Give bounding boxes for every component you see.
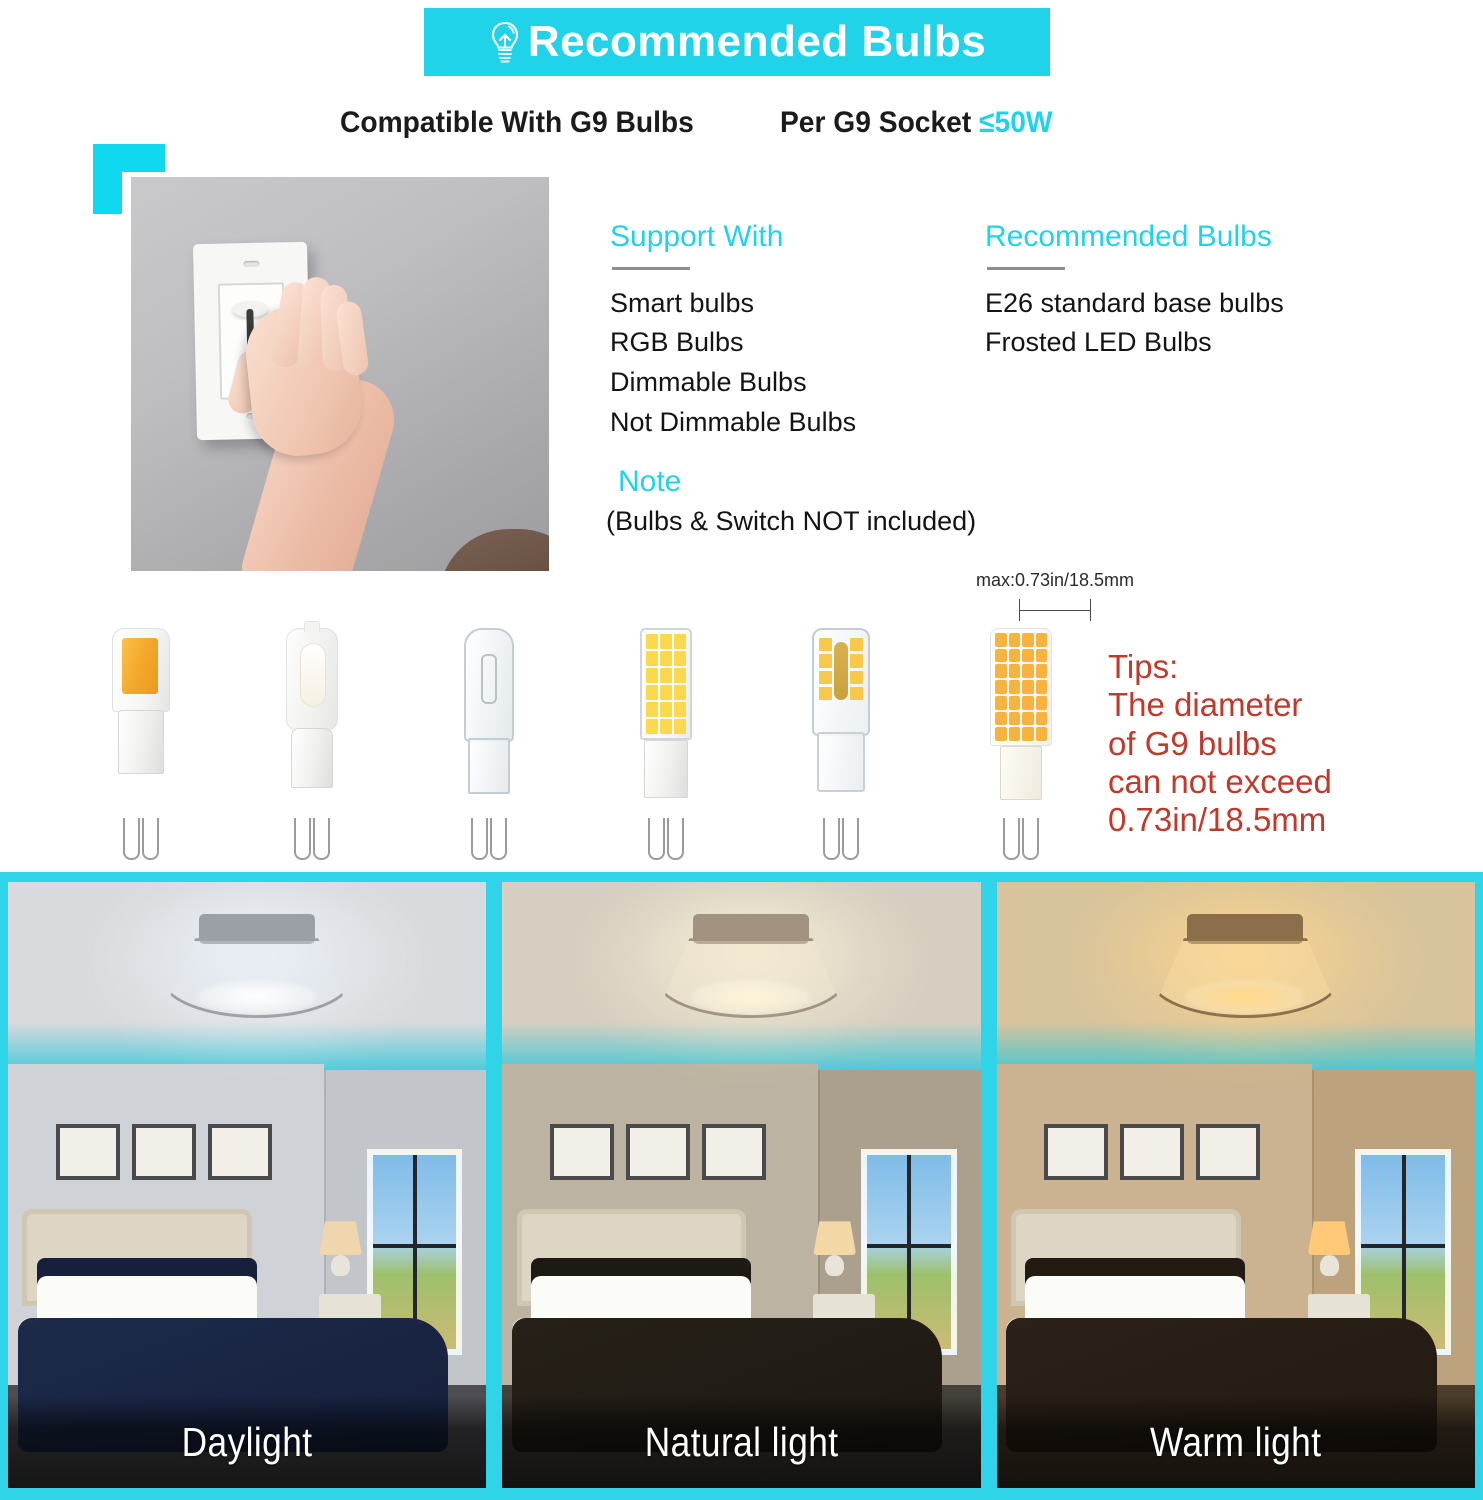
note-block: Note (Bulbs & Switch NOT included)	[618, 465, 1048, 537]
bulb-3-base	[468, 738, 510, 794]
bulb-3-pin-right	[490, 818, 507, 860]
bulb-3-pin-left	[471, 818, 488, 860]
room-photo-warm-light: Warm light	[997, 882, 1475, 1488]
frame-2-1	[1120, 1124, 1184, 1180]
subtitle-row: Compatible With G9 Bulbs Per G9 Socket ≤…	[340, 106, 1140, 140]
tips-block: Tips: The diameter of G9 bulbs can not e…	[1108, 648, 1468, 839]
bulb-6-base	[1000, 746, 1042, 800]
ceiling-light-fixture-0	[157, 912, 357, 1018]
bulb-2-pin-right	[313, 818, 330, 860]
smd-led-g9-bulb	[620, 628, 712, 858]
room-caption-natural-light: Natural light	[645, 1419, 839, 1466]
bulb-6-envelope	[990, 628, 1052, 746]
max-diameter-label: max:0.73in/18.5mm	[955, 570, 1155, 591]
bulb-1-cob-chip	[122, 638, 158, 694]
frame-2-0	[1044, 1124, 1108, 1180]
corn-led-g9-bulb	[975, 628, 1067, 858]
fixture-bulbs-1	[691, 980, 811, 1014]
frame-2-2	[1196, 1124, 1260, 1180]
table-lamp-0	[319, 1221, 362, 1276]
support-with-heading: Support With	[610, 220, 980, 255]
bulb-4-pin-left	[648, 818, 665, 860]
bulb-5-leds-left	[819, 638, 832, 700]
ceiling-light-fixture-1	[651, 912, 851, 1018]
lamp-base-1	[825, 1255, 844, 1276]
bulb-5-filament	[834, 642, 848, 700]
bulb-3-envelope	[464, 628, 514, 742]
frame-0-0	[56, 1124, 120, 1180]
clear-halogen-g9-bulb	[443, 628, 535, 858]
bulb-5-envelope	[812, 628, 870, 736]
bulb-1-pin-left	[123, 818, 140, 860]
frame-1-2	[702, 1124, 766, 1180]
bulb-2-pins	[289, 818, 335, 858]
fixture-bulbs-2	[1185, 980, 1305, 1014]
wallplate-screw-top	[243, 261, 259, 267]
tips-line-2: of G9 bulbs	[1108, 725, 1468, 763]
lightbulb-icon	[488, 20, 522, 64]
head-hair	[439, 529, 549, 571]
ceiling-light-fixture-2	[1145, 912, 1345, 1018]
bulb-5-pin-left	[823, 818, 840, 860]
note-heading: Note	[618, 465, 1048, 498]
frame-0-2	[208, 1124, 272, 1180]
support-with-rule	[612, 267, 690, 270]
tips-line-3: can not exceed	[1108, 763, 1468, 801]
frosted-cob-g9-bulb	[95, 628, 187, 858]
bulb-5-pins	[818, 818, 864, 858]
light-temperature-gallery: Daylight	[0, 872, 1483, 1500]
support-with-column: Support With Smart bulbs RGB Bulbs Dimma…	[610, 220, 980, 443]
wattage-prefix: Per G9 Socket	[780, 106, 979, 139]
bulb-1-pins	[118, 818, 164, 858]
note-text: (Bulbs & Switch NOT included)	[606, 506, 1048, 537]
support-item-2: Dimmable Bulbs	[610, 363, 980, 403]
bulb-4-envelope	[640, 628, 692, 740]
table-lamp-1	[813, 1221, 856, 1276]
wall-art-frames-0	[56, 1124, 272, 1180]
frame-1-1	[626, 1124, 690, 1180]
wattage-value: ≤50W	[979, 106, 1052, 139]
bulb-2-diffuser	[300, 643, 326, 707]
frame-0-1	[132, 1124, 196, 1180]
bulb-2-base	[291, 728, 333, 788]
bulb-2-tip	[304, 621, 320, 632]
banner-title: Recommended Bulbs	[528, 20, 986, 64]
lamp-shade-0	[319, 1221, 362, 1255]
bulb-4-base	[644, 740, 688, 798]
bulb-2-envelope	[286, 628, 338, 730]
tips-line-4: 0.73in/18.5mm	[1108, 801, 1468, 839]
bulb-1-base	[118, 710, 164, 774]
bulb-6-pin-left	[1003, 818, 1020, 860]
bulb-4-pin-right	[667, 818, 684, 860]
lamp-base-0	[331, 1255, 350, 1276]
room-caption-warm-light: Warm light	[1150, 1419, 1321, 1466]
wattage-text: Per G9 Socket ≤50W	[780, 106, 1053, 140]
bulb-3-filament	[481, 654, 497, 704]
bulb-5-leds-right	[850, 638, 863, 700]
frosted-capsule-g9-bulb	[266, 628, 358, 858]
tips-line-0: Tips:	[1108, 648, 1468, 686]
caption-bar-2: Warm light	[997, 1396, 1475, 1488]
recommended-bulbs-column: Recommended Bulbs E26 standard base bulb…	[985, 220, 1385, 363]
caption-bar-1: Natural light	[502, 1396, 980, 1488]
room-photo-daylight: Daylight	[8, 882, 486, 1488]
max-diameter-callout: max:0.73in/18.5mm	[955, 570, 1155, 621]
recommended-bulbs-heading: Recommended Bulbs	[985, 220, 1385, 255]
fixture-bulbs-0	[197, 980, 317, 1014]
recommended-item-1: Frosted LED Bulbs	[985, 323, 1385, 363]
bulb-1-envelope	[112, 628, 170, 712]
bulb-6-pin-right	[1022, 818, 1039, 860]
bulb-2-pin-left	[294, 818, 311, 860]
wall-art-frames-1	[550, 1124, 766, 1180]
bulb-3-pins	[466, 818, 512, 858]
corner-bracket-vertical	[93, 144, 122, 214]
lamp-shade-2	[1308, 1221, 1351, 1255]
dimension-bar	[1019, 610, 1091, 611]
bulb-5-pin-right	[842, 818, 859, 860]
table-lamp-2	[1308, 1221, 1351, 1276]
bulb-1-pin-right	[142, 818, 159, 860]
frame-1-0	[550, 1124, 614, 1180]
bulb-5-base	[817, 732, 865, 792]
g9-bulb-lineup	[95, 618, 1095, 858]
compatibility-text: Compatible With G9 Bulbs	[340, 106, 754, 140]
bulb-4-pins	[643, 818, 689, 858]
room-photo-natural-light: Natural light	[502, 882, 980, 1488]
recommended-bulbs-rule	[987, 267, 1065, 270]
wall-art-frames-2	[1044, 1124, 1260, 1180]
caption-bar-0: Daylight	[8, 1396, 486, 1488]
header-banner: Recommended Bulbs	[424, 8, 1050, 76]
lamp-shade-1	[813, 1221, 856, 1255]
bulb-6-pins	[998, 818, 1044, 858]
support-item-3: Not Dimmable Bulbs	[610, 403, 980, 443]
room-caption-daylight: Daylight	[182, 1419, 313, 1466]
wall-switch-photo	[131, 177, 549, 571]
recommended-item-0: E26 standard base bulbs	[985, 284, 1385, 324]
support-item-0: Smart bulbs	[610, 284, 980, 324]
tips-line-1: The diameter	[1108, 686, 1468, 724]
support-item-1: RGB Bulbs	[610, 323, 980, 363]
lamp-base-2	[1320, 1255, 1339, 1276]
clear-filament-g9-bulb	[795, 628, 887, 858]
